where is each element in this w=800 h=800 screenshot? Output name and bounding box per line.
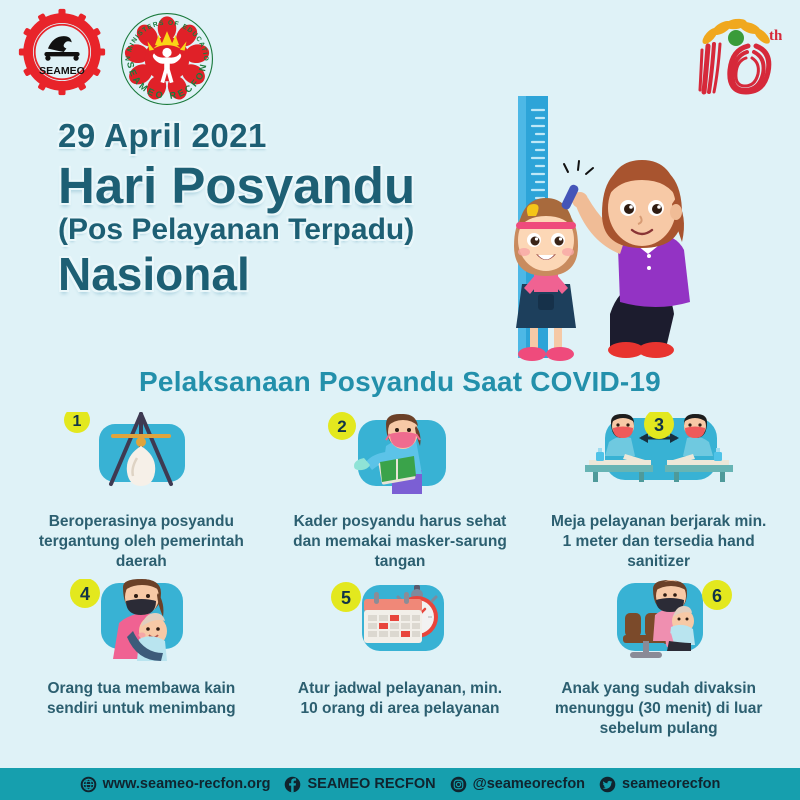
tip-badge-number: 3 <box>654 415 664 435</box>
parent-carrying-baby-cloth-icon: 4 <box>41 579 241 667</box>
tip-text: Kader posyandu harus sehat dan memakai m… <box>290 512 510 571</box>
tip-text: Atur jadwal pelayanan, min. 10 orang di … <box>290 679 510 719</box>
distanced-service-desks-icon: 3 <box>559 412 759 500</box>
footer-twitter-label: seameorecfon <box>622 776 720 792</box>
tip-item-1: 1 Beroperasinya posyandu tergantung oleh… <box>12 412 271 571</box>
facebook-icon <box>284 776 301 793</box>
infographic-poster: SEAMEO <box>0 0 800 800</box>
globe-icon <box>80 776 97 793</box>
seameo-recfon-logo: SOUTHEAST ASIAN MINISTERS OF EDUCATION O… <box>116 8 218 110</box>
footer-bar: www.seameo-recfon.org SEAMEO RECFON <box>0 768 800 800</box>
seameo-logo-label: SEAMEO <box>39 65 85 77</box>
footer-instagram-label: @seameorecfon <box>473 776 585 792</box>
tip-badge-number: 2 <box>337 417 346 436</box>
woman-measuring-icon <box>560 160 690 358</box>
page-title-line2: (Pos Pelayanan Terpadu) <box>58 214 528 246</box>
tip-item-2: 2 Kader posyandu harus sehat dan memakai… <box>271 412 530 571</box>
tip-text: Anak yang sudah divaksin menunggu (30 me… <box>549 679 769 738</box>
footer-facebook-label: SEAMEO RECFON <box>307 776 435 792</box>
waiting-chairs-mother-baby-icon: 6 <box>559 579 759 667</box>
calendar-stopwatch-icon: 5 <box>300 579 500 667</box>
footer-instagram[interactable]: @seameorecfon <box>450 776 585 793</box>
tip-text: Orang tua membawa kain sendiri untuk men… <box>31 679 251 719</box>
anniversary-suffix: th <box>769 28 782 44</box>
twitter-icon <box>599 776 616 793</box>
tips-grid: 1 Beroperasinya posyandu tergantung oleh… <box>12 412 788 739</box>
title-block: 29 April 2021 Hari Posyandu (Pos Pelayan… <box>58 118 528 298</box>
instagram-icon <box>450 776 467 793</box>
tip-item-6: 6 Anak yang sudah divaksin menunggu (30 … <box>529 579 788 738</box>
tip-item-3: 3 Meja pelayanan berjarak min. 1 meter d… <box>529 412 788 571</box>
page-title-line1: Hari Posyandu <box>58 160 528 212</box>
tip-text: Meja pelayanan berjarak min. 1 meter dan… <box>549 512 769 571</box>
section-heading: Pelaksanaan Posyandu Saat COVID-19 <box>0 366 800 398</box>
footer-facebook[interactable]: SEAMEO RECFON <box>284 776 435 793</box>
tip-badge-number: 5 <box>341 588 351 608</box>
footer-website[interactable]: www.seameo-recfon.org <box>80 776 271 793</box>
tip-item-5: 5 Atur jadwal pelayanan, min. 10 orang d… <box>271 579 530 738</box>
header-logos: SEAMEO <box>18 8 218 110</box>
footer-twitter[interactable]: seameorecfon <box>599 776 720 793</box>
page-title-line3: Nasional <box>58 250 528 298</box>
tip-badge-number: 1 <box>73 413 82 430</box>
child-height-measurement-illustration <box>470 88 770 378</box>
masked-health-worker-icon: 2 <box>300 412 500 500</box>
tip-text: Beroperasinya posyandu tergantung oleh p… <box>31 512 251 571</box>
event-date: 29 April 2021 <box>58 118 528 154</box>
seameo-logo: SEAMEO <box>18 8 106 96</box>
tip-badge-number: 6 <box>712 586 722 606</box>
footer-website-label: www.seameo-recfon.org <box>103 776 271 792</box>
tip-badge-number: 4 <box>80 584 90 604</box>
weighing-scale-tripod-icon: 1 <box>41 412 241 500</box>
tip-item-4: 4 Orang tua membawa kain sendiri untuk m… <box>12 579 271 738</box>
